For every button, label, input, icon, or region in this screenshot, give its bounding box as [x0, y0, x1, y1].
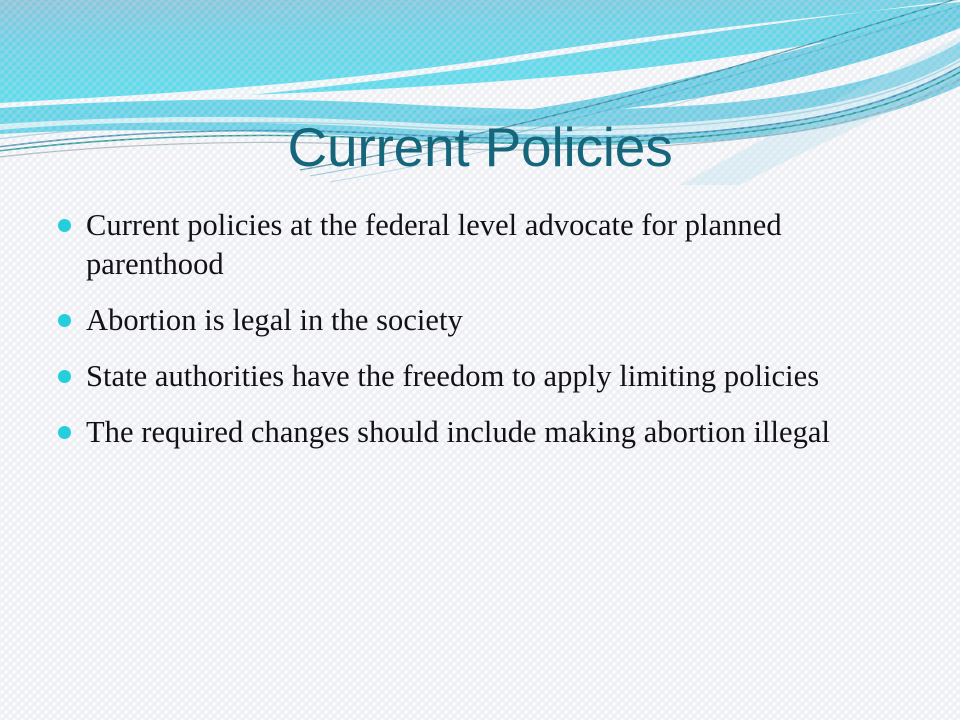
presentation-slide: Current Policies Current policies at the… — [0, 0, 960, 720]
bullet-dot-icon — [58, 314, 71, 327]
bullet-item-text: The required changes should include maki… — [86, 413, 920, 452]
bullet-item: Abortion is legal in the society — [52, 301, 920, 340]
bullet-item-text: Current policies at the federal level ad… — [86, 206, 920, 284]
bullet-dot-icon — [58, 219, 71, 232]
bullet-item: Current policies at the federal level ad… — [52, 206, 920, 284]
bullet-item: The required changes should include maki… — [52, 413, 920, 452]
bullet-dot-icon — [58, 426, 71, 439]
slide-title: Current Policies — [0, 118, 960, 177]
bullet-item: State authorities have the freedom to ap… — [52, 357, 920, 396]
bullet-dot-icon — [58, 370, 71, 383]
bullet-item-text: Abortion is legal in the society — [86, 301, 920, 340]
slide-bullet-list: Current policies at the federal level ad… — [52, 206, 920, 452]
bullet-item-text: State authorities have the freedom to ap… — [86, 357, 920, 396]
